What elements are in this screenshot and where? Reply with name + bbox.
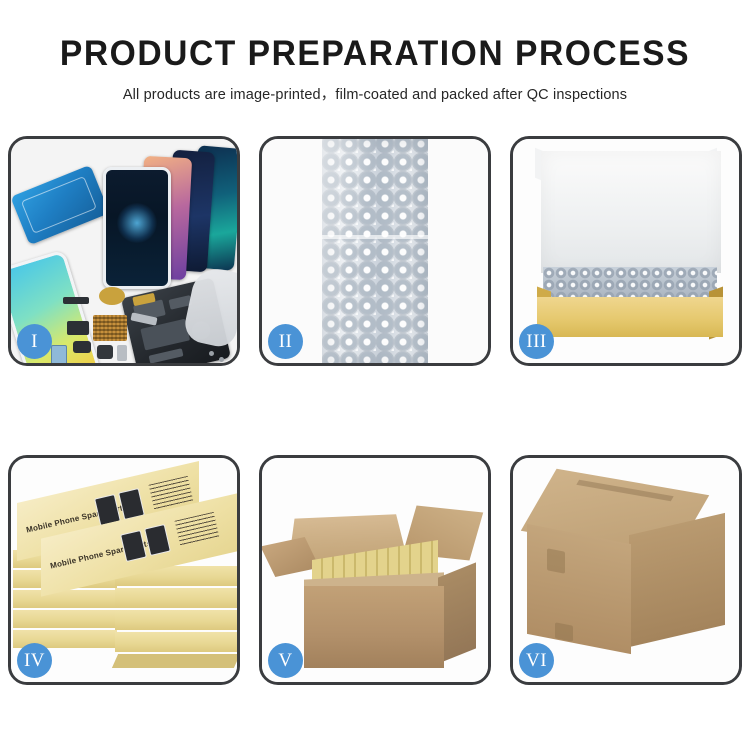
page-header: PRODUCT PREPARATION PROCESS All products… xyxy=(0,0,750,104)
process-step-panel-4[interactable]: Mobile Phone Spare Parts Mobile Phone Sp… xyxy=(8,455,240,685)
sealed-carton-front-panel xyxy=(527,524,631,654)
bubble-wrapped-contents xyxy=(543,267,717,299)
box-front-panel xyxy=(537,297,723,337)
stacked-box-r4 xyxy=(115,632,237,652)
screw-2 xyxy=(219,357,224,362)
carton-handle-tab-bottom xyxy=(555,622,573,641)
stacked-box-l4 xyxy=(13,610,117,628)
process-step-panel-2[interactable]: II xyxy=(259,136,491,366)
step-badge-3: III xyxy=(519,324,554,359)
process-step-grid: I II III xyxy=(8,136,742,685)
battery-connector xyxy=(117,345,127,361)
sealed-carton-right-panel xyxy=(629,513,725,647)
stacked-box-l3 xyxy=(13,590,117,608)
process-step-panel-3[interactable]: III xyxy=(510,136,742,366)
process-step-panel-5[interactable]: V xyxy=(259,455,491,685)
bubble-wrap-sheet xyxy=(322,139,428,363)
small-part-1 xyxy=(63,297,89,304)
process-step-panel-6[interactable]: VI xyxy=(510,455,742,685)
mesh-part xyxy=(93,315,127,341)
speaker-part xyxy=(97,345,113,359)
step-badge-2: II xyxy=(268,324,303,359)
small-part-2 xyxy=(67,321,89,335)
black-screen-phone xyxy=(103,167,171,289)
stacked-box-r3 xyxy=(115,610,237,630)
camera-module xyxy=(51,345,67,363)
page-title: PRODUCT PREPARATION PROCESS xyxy=(15,34,735,74)
box-lid-open xyxy=(541,151,721,273)
carton-handle-tab-top xyxy=(547,548,565,573)
step-badge-4: IV xyxy=(17,643,52,678)
stack-base-shadow xyxy=(112,654,237,668)
process-step-panel-1[interactable]: I xyxy=(8,136,240,366)
small-part-3 xyxy=(73,341,91,353)
carton-front-panel xyxy=(304,586,444,668)
stacked-box-r2 xyxy=(115,588,237,608)
gold-coil-part xyxy=(99,287,125,305)
page-subtitle: All products are image-printed，film-coat… xyxy=(0,83,750,104)
step-badge-1: I xyxy=(17,324,52,359)
step-badge-5: V xyxy=(268,643,303,678)
step-badge-6: VI xyxy=(519,643,554,678)
bubble-wrap-seam xyxy=(322,235,428,239)
screw-1 xyxy=(209,351,214,356)
